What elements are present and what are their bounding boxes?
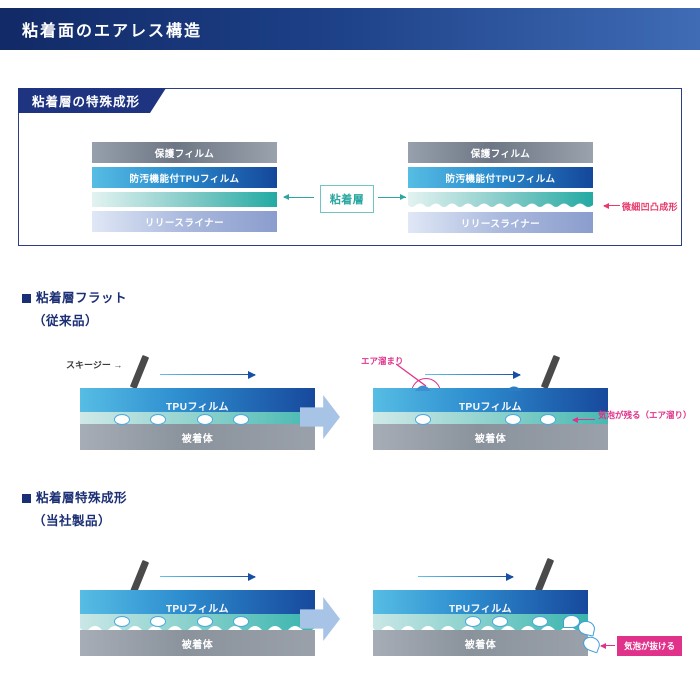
- squeegee-icon: [130, 560, 149, 594]
- section-heading-textured: 粘着層特殊成形: [22, 487, 127, 506]
- air-bubble: [465, 616, 481, 627]
- air-bubble: [197, 414, 213, 425]
- bubble-escapes-arrow: [601, 645, 615, 646]
- direction-arrow: [160, 576, 255, 577]
- layer-label: 保護フィルム: [155, 146, 215, 160]
- adhesive-layer-callout: 粘着層: [320, 185, 374, 213]
- layer-protect-film-right: 保護フィルム: [408, 142, 593, 163]
- air-bubble: [150, 414, 166, 425]
- air-bubble: [233, 414, 249, 425]
- layer-adhesive-flat-left: [92, 192, 277, 207]
- adhesive-layer-callout-label: 粘着層: [330, 191, 365, 207]
- section-heading-flat: 粘着層フラット: [22, 287, 127, 306]
- section-heading-textured-label: 粘着層特殊成形: [36, 491, 127, 505]
- callout-arrow-left-head: [283, 194, 289, 200]
- page-header: 粘着面のエアレス構造: [0, 8, 700, 50]
- surface-bump-icon: [373, 379, 608, 391]
- substrate-block: 被着体: [80, 630, 315, 656]
- layer-label: 防汚機能付TPUフィルム: [445, 171, 555, 185]
- bullet-square-icon: [22, 494, 31, 503]
- bubble-escapes-badge: 気泡が抜ける: [617, 636, 682, 656]
- micro-texture-arrow: [604, 205, 620, 206]
- bubble-remains-arrow: [573, 419, 595, 420]
- layer-tpu-film-left: 防汚機能付TPUフィルム: [92, 167, 277, 188]
- substrate-label: 被着体: [182, 430, 214, 445]
- layer-tpu-film-right: 防汚機能付TPUフィルム: [408, 167, 593, 188]
- layer-label: 防汚機能付TPUフィルム: [129, 171, 239, 185]
- bubble-remains-label: 気泡が残る（エア溜り）: [598, 409, 692, 421]
- air-bubble: [492, 616, 508, 627]
- substrate-block: 被着体: [373, 424, 608, 450]
- air-bubble: [540, 414, 556, 425]
- section-sub-textured: （当社製品）: [33, 510, 111, 529]
- layer-protect-film-left: 保護フィルム: [92, 142, 277, 163]
- direction-arrow: [160, 374, 255, 375]
- layer-adhesive-textured-right: [408, 192, 593, 208]
- layer-release-liner-left: リリースライナー: [92, 211, 277, 232]
- tpu-film-label: TPUフィルム: [166, 600, 229, 615]
- squeegee-icon: [130, 355, 149, 389]
- air-bubble: [233, 616, 249, 627]
- substrate-block: 被着体: [80, 424, 315, 450]
- panel-tab: 粘着層の特殊成形: [18, 88, 166, 113]
- squeegee-icon: [535, 558, 554, 592]
- wave-edge-icon: [408, 202, 593, 209]
- air-bubble: [114, 414, 130, 425]
- air-bubble: [150, 616, 166, 627]
- substrate-block: 被着体: [373, 630, 588, 656]
- callout-arrow-right-head: [400, 194, 406, 200]
- section-sub-flat: （従来品）: [33, 310, 98, 329]
- air-bubble: [197, 616, 213, 627]
- air-bubble: [114, 616, 130, 627]
- direction-arrow: [425, 374, 520, 375]
- air-bubble: [532, 616, 548, 627]
- layer-label: リリースライナー: [145, 215, 224, 229]
- bullet-square-icon: [22, 294, 31, 303]
- substrate-label: 被着体: [465, 636, 497, 651]
- section-heading-flat-label: 粘着層フラット: [36, 291, 127, 305]
- tpu-film-label: TPUフィルム: [459, 398, 522, 413]
- layer-label: 保護フィルム: [471, 146, 531, 160]
- micro-texture-label: 微細凹凸成形: [622, 200, 678, 213]
- panel-tab-label: 粘着層の特殊成形: [32, 91, 140, 110]
- air-bubble: [505, 414, 521, 425]
- layer-release-liner-right: リリースライナー: [408, 212, 593, 233]
- direction-arrow: [418, 576, 513, 577]
- substrate-label: 被着体: [182, 636, 214, 651]
- layer-stack-left: 保護フィルム 防汚機能付TPUフィルム リリースライナー: [92, 142, 277, 236]
- squeegee-label: スキージー →: [66, 358, 122, 371]
- substrate-label: 被着体: [475, 430, 507, 445]
- tpu-film-label: TPUフィルム: [449, 600, 512, 615]
- page-title: 粘着面のエアレス構造: [22, 17, 202, 41]
- air-bubble: [415, 414, 431, 425]
- tpu-film-label: TPUフィルム: [166, 398, 229, 413]
- layer-stack-right: 保護フィルム 防汚機能付TPUフィルム リリースライナー: [408, 142, 593, 237]
- layer-label: リリースライナー: [461, 216, 540, 230]
